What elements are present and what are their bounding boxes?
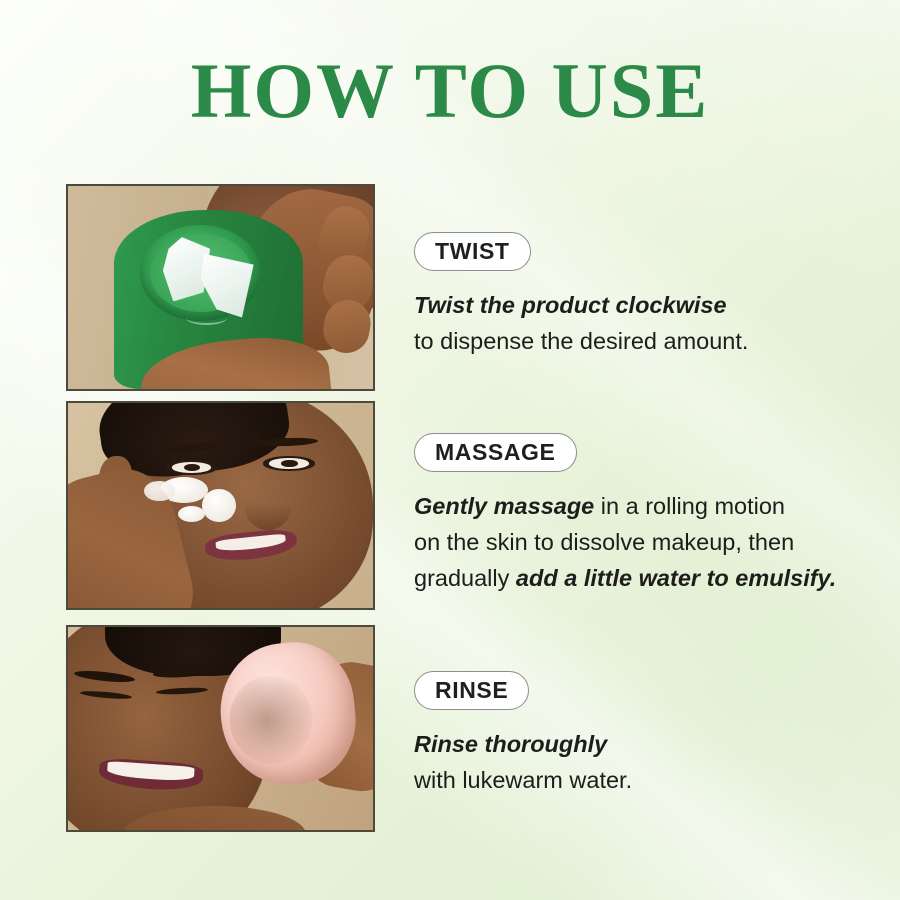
step-rinse-photo [66, 625, 375, 832]
step-rinse-text: RINSE Rinse thoroughly with lukewarm wat… [414, 671, 884, 799]
poster-content: HOW TO USE [0, 0, 900, 900]
massage-line3-emphasis: add a little water to emulsify. [516, 565, 836, 591]
step-massage-text: MASSAGE Gently massage in a rolling moti… [414, 433, 884, 596]
step-twist-description: Twist the product clockwise to dispense … [414, 288, 884, 359]
step-massage-photo [66, 401, 375, 610]
massage-line2: on the skin to dissolve makeup, then [414, 529, 794, 555]
step-twist-photo [66, 184, 375, 391]
step-label-massage: MASSAGE [414, 433, 577, 472]
page-title: HOW TO USE [0, 52, 900, 130]
twist-illustration [68, 186, 373, 389]
massage-line1-rest: in a rolling motion [594, 493, 785, 519]
twist-line1-emphasis: Twist the product clockwise [414, 292, 727, 318]
massage-line3-rest: gradually [414, 565, 516, 591]
massage-line1-emphasis: Gently massage [414, 493, 594, 519]
step-twist-text: TWIST Twist the product clockwise to dis… [414, 232, 884, 360]
step-rinse-description: Rinse thoroughly with lukewarm water. [414, 727, 884, 798]
step-label-twist: TWIST [414, 232, 531, 271]
step-label-rinse: RINSE [414, 671, 529, 710]
rinse-line2: with lukewarm water. [414, 767, 632, 793]
massage-illustration [68, 403, 373, 608]
rinse-line1-emphasis: Rinse thoroughly [414, 731, 607, 757]
twist-line2: to dispense the desired amount. [414, 328, 748, 354]
poster-background: HOW TO USE [0, 0, 900, 900]
step-massage-description: Gently massage in a rolling motion on th… [414, 489, 884, 596]
rinse-illustration [68, 627, 373, 830]
